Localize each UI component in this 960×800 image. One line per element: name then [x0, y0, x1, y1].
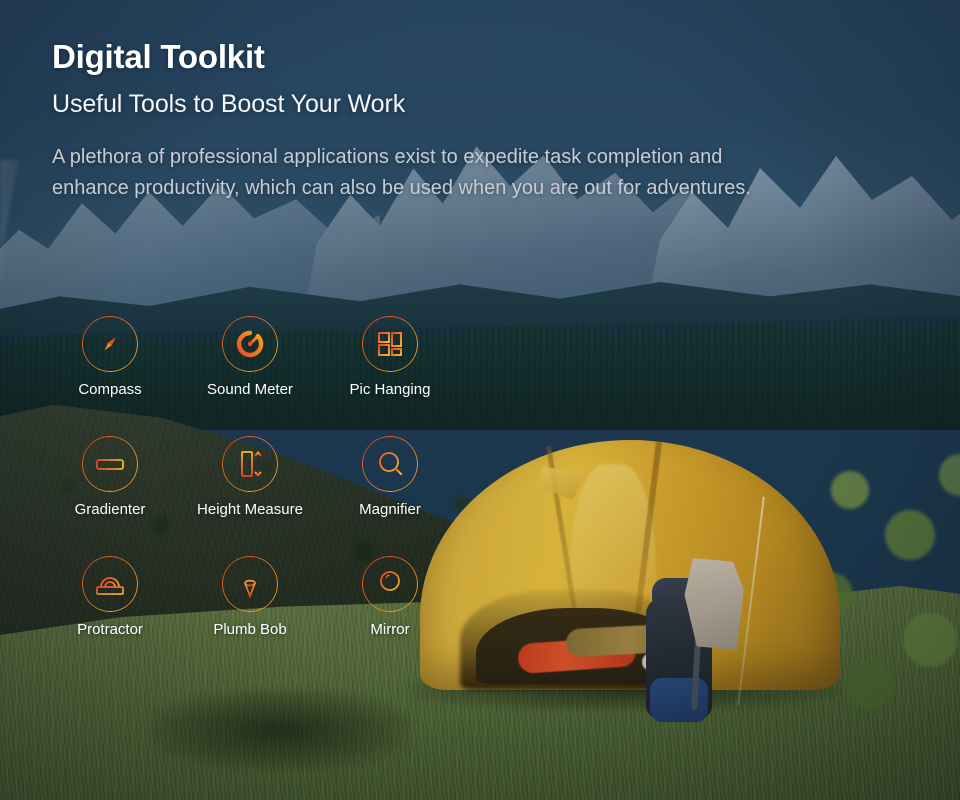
- tool-row: Protractor: [40, 556, 460, 676]
- tool-row: Compass Sound Meter: [40, 316, 460, 436]
- magnifier-ring: [362, 436, 418, 492]
- tool-row: Gradienter: [40, 436, 460, 556]
- tool-item-compass[interactable]: Compass: [40, 316, 180, 436]
- tool-item-mirror[interactable]: Mirror: [320, 556, 460, 676]
- promo-banner: Digital Toolkit Useful Tools to Boost Yo…: [0, 0, 960, 800]
- plumb-bob-ring: [222, 556, 278, 612]
- magnifier-icon: [374, 448, 406, 480]
- mirror-ring: [362, 556, 418, 612]
- tool-label: Protractor: [77, 621, 143, 638]
- tool-label: Magnifier: [359, 501, 421, 518]
- tool-item-pic-hanging[interactable]: Pic Hanging: [320, 316, 460, 436]
- tool-item-protractor[interactable]: Protractor: [40, 556, 180, 676]
- content-overlay: Digital Toolkit Useful Tools to Boost Yo…: [0, 0, 960, 800]
- tool-label: Gradienter: [75, 501, 146, 518]
- tool-grid: Compass Sound Meter: [40, 316, 460, 676]
- sound-meter-icon: [234, 328, 266, 360]
- page-description: A plethora of professional applications …: [52, 142, 772, 204]
- tool-item-plumb-bob[interactable]: Plumb Bob: [180, 556, 320, 676]
- tool-label: Plumb Bob: [213, 621, 286, 638]
- height-measure-ring: [222, 436, 278, 492]
- protractor-ring: [82, 556, 138, 612]
- tool-label: Height Measure: [197, 501, 303, 518]
- tool-label: Mirror: [370, 621, 409, 638]
- page-subtitle: Useful Tools to Boost Your Work: [52, 90, 405, 119]
- gradienter-icon: [94, 448, 126, 480]
- compass-icon: [94, 328, 126, 360]
- protractor-icon: [94, 568, 126, 600]
- pic-hanging-icon: [374, 328, 406, 360]
- pic-hanging-ring: [362, 316, 418, 372]
- gradienter-ring: [82, 436, 138, 492]
- compass-ring: [82, 316, 138, 372]
- sound-meter-ring: [222, 316, 278, 372]
- page-title: Digital Toolkit: [52, 38, 265, 76]
- tool-item-height-measure[interactable]: Height Measure: [180, 436, 320, 556]
- mirror-icon: [374, 568, 406, 600]
- height-measure-icon: [234, 448, 266, 480]
- tool-item-gradienter[interactable]: Gradienter: [40, 436, 180, 556]
- tool-label: Sound Meter: [207, 381, 293, 398]
- tool-item-magnifier[interactable]: Magnifier: [320, 436, 460, 556]
- tool-label: Compass: [78, 381, 141, 398]
- tool-item-sound-meter[interactable]: Sound Meter: [180, 316, 320, 436]
- plumb-bob-icon: [234, 568, 266, 600]
- tool-label: Pic Hanging: [350, 381, 431, 398]
